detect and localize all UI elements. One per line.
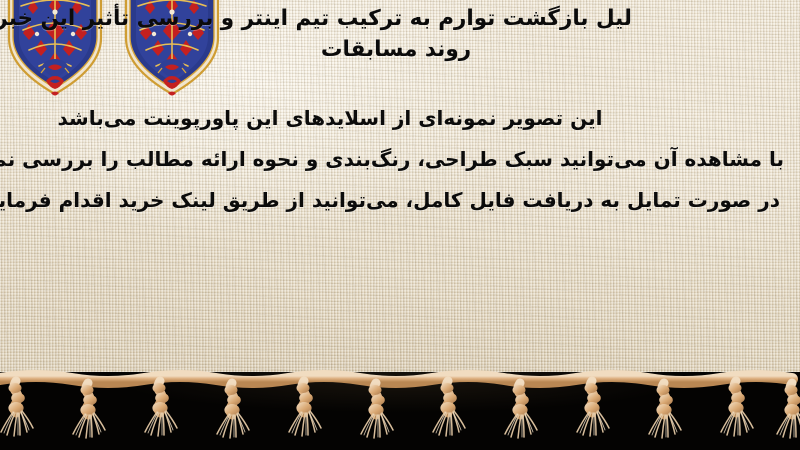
body-line-2: با مشاهده آن می‌توانید سبک طراحی، رنگ‌بن… [10,149,800,169]
tassel [505,383,537,438]
headline-line-1: لیل بازگشت توارم به ترکیب تیم اینتر و بر… [12,4,632,35]
headline: لیل بازگشت توارم به ترکیب تیم اینتر و بر… [12,4,792,65]
tassel [73,383,105,438]
tassel [1,381,33,436]
tassel [361,383,393,438]
headline-line-2: روند مسابقات [12,35,780,66]
slide-canvas: لیل بازگشت توارم به ترکیب تیم اینتر و بر… [0,0,800,450]
tassel [289,381,321,436]
tassel [649,383,681,438]
tassel [721,381,753,436]
fringe-selvedge-cord [0,376,792,382]
body-line-1: این تصویر نمونه‌ای از اسلایدهای این پاور… [10,108,800,128]
tassel [145,381,177,436]
carpet-fringe [0,350,800,450]
tassel [217,383,249,438]
body-line-3: در صورت تمایل به دریافت فایل کامل، می‌تو… [10,190,800,210]
tassel [577,381,609,436]
body-text-block: این تصویر نمونه‌ای از اسلایدهای این پاور… [10,108,800,210]
tassel [777,383,800,438]
tassel [433,381,465,436]
